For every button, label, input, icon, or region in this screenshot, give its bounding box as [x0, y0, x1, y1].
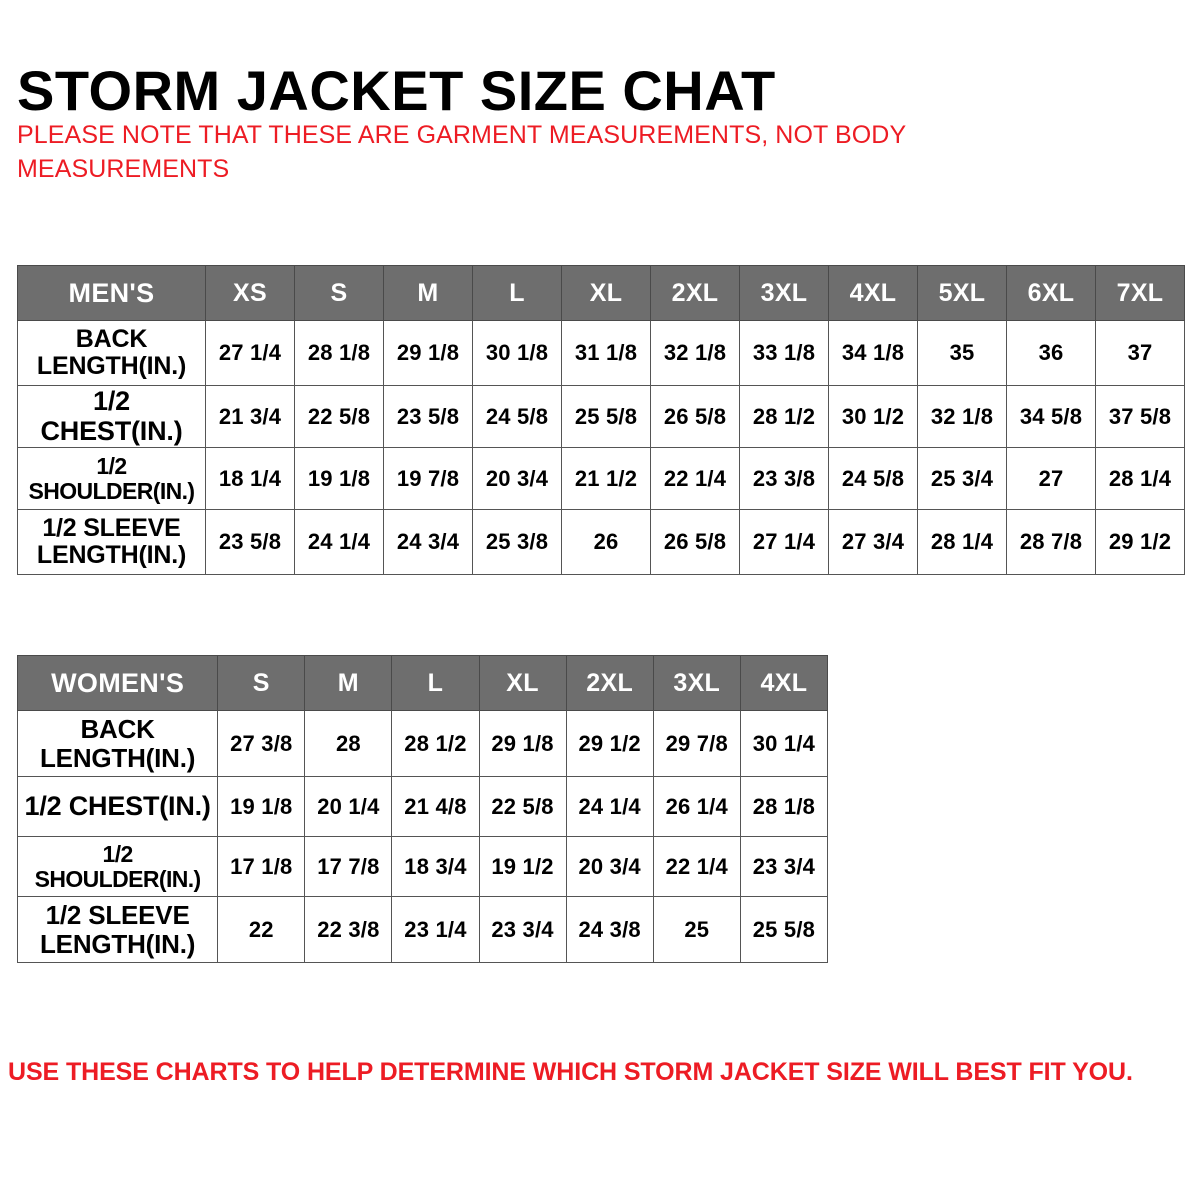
- measurement-cell: 28 1/2: [392, 711, 479, 777]
- measurement-cell: 22: [218, 897, 305, 963]
- womens-column-header-xl: XL: [479, 656, 566, 711]
- measurement-cell: 23 3/8: [740, 448, 829, 510]
- womens-row-label-3: 1/2 SLEEVELENGTH(IN.): [18, 897, 218, 963]
- measurement-cell: 28 1/2: [740, 386, 829, 448]
- measurement-cell: 23 5/8: [206, 510, 295, 575]
- measurement-cell: 28 1/4: [918, 510, 1007, 575]
- measurement-cell: 25 5/8: [740, 897, 827, 963]
- measurement-cell: 25 5/8: [562, 386, 651, 448]
- measurement-cell: 18 1/4: [206, 448, 295, 510]
- measurement-cell: 27: [1007, 448, 1096, 510]
- womens-table-head: WOMEN'SSMLXL2XL3XL4XL: [18, 656, 828, 711]
- measurement-cell: 29 1/8: [384, 321, 473, 386]
- measurement-cell: 29 1/2: [1096, 510, 1185, 575]
- measurement-cell: 18 3/4: [392, 837, 479, 897]
- measurement-cell: 36: [1007, 321, 1096, 386]
- row-label-line: LENGTH(IN.): [37, 541, 186, 569]
- womens-corner-label: WOMEN'S: [18, 656, 218, 711]
- mens-column-header-xl: XL: [562, 266, 651, 321]
- measurement-cell: 26: [562, 510, 651, 575]
- table-row: BACKLENGTH(IN.)27 3/82828 1/229 1/829 1/…: [18, 711, 828, 777]
- measurement-cell: 28 1/8: [740, 777, 827, 837]
- mens-column-header-2xl: 2XL: [651, 266, 740, 321]
- measurement-cell: 34 1/8: [829, 321, 918, 386]
- mens-table-head: MEN'SXSSMLXL2XL3XL4XL5XL6XL7XL: [18, 266, 1185, 321]
- measurement-cell: 21 3/4: [206, 386, 295, 448]
- mens-row-label-1: 1/2 CHEST(IN.): [18, 386, 206, 448]
- mens-column-header-3xl: 3XL: [740, 266, 829, 321]
- womens-header-row: WOMEN'SSMLXL2XL3XL4XL: [18, 656, 828, 711]
- measurement-cell: 24 5/8: [829, 448, 918, 510]
- measurement-cell: 23 3/4: [479, 897, 566, 963]
- measurement-cell: 32 1/8: [918, 386, 1007, 448]
- row-label-line: LENGTH(IN.): [37, 352, 186, 380]
- row-label-line: 1/2 SLEEVE: [42, 514, 180, 542]
- mens-column-header-7xl: 7XL: [1096, 266, 1185, 321]
- measurement-cell: 30 1/8: [473, 321, 562, 386]
- measurement-cell: 19 1/2: [479, 837, 566, 897]
- womens-row-label-2: 1/2 SHOULDER(IN.): [18, 837, 218, 897]
- mens-column-header-s: S: [295, 266, 384, 321]
- mens-column-header-6xl: 6XL: [1007, 266, 1096, 321]
- measurement-cell: 34 5/8: [1007, 386, 1096, 448]
- measurement-cell: 27 3/8: [218, 711, 305, 777]
- row-label-line: 1/2 SLEEVE: [46, 900, 190, 930]
- measurement-cell: 26 5/8: [651, 510, 740, 575]
- measurement-cell: 35: [918, 321, 1007, 386]
- measurement-cell: 24 3/8: [566, 897, 653, 963]
- measurement-cell: 17 1/8: [218, 837, 305, 897]
- row-label-line: LENGTH(IN.): [40, 929, 195, 959]
- measurement-cell: 32 1/8: [651, 321, 740, 386]
- measurement-cell: 37 5/8: [1096, 386, 1185, 448]
- measurement-cell: 27 1/4: [206, 321, 295, 386]
- measurement-cell: 25 3/8: [473, 510, 562, 575]
- womens-table-body: BACKLENGTH(IN.)27 3/82828 1/229 1/829 1/…: [18, 711, 828, 963]
- size-chart-page: STORM JACKET SIZE CHAT PLEASE NOTE THAT …: [0, 0, 1200, 1200]
- footer-note: USE THESE CHARTS TO HELP DETERMINE WHICH…: [8, 1058, 1188, 1087]
- mens-row-label-0: BACKLENGTH(IN.): [18, 321, 206, 386]
- measurement-cell: 27 3/4: [829, 510, 918, 575]
- measurement-cell: 28 7/8: [1007, 510, 1096, 575]
- row-label-line: BACK: [80, 714, 154, 744]
- measurement-cell: 26 1/4: [653, 777, 740, 837]
- measurement-cell: 22 5/8: [479, 777, 566, 837]
- measurement-cell: 37: [1096, 321, 1185, 386]
- table-row: 1/2 CHEST(IN.)21 3/422 5/823 5/824 5/825…: [18, 386, 1185, 448]
- measurement-cell: 17 7/8: [305, 837, 392, 897]
- measurement-cell: 22 3/8: [305, 897, 392, 963]
- measurement-cell: 28: [305, 711, 392, 777]
- table-row: 1/2 CHEST(IN.)19 1/820 1/421 4/822 5/824…: [18, 777, 828, 837]
- measurement-cell: 33 1/8: [740, 321, 829, 386]
- measurement-cell: 20 3/4: [566, 837, 653, 897]
- table-row: 1/2 SLEEVELENGTH(IN.)2222 3/823 1/423 3/…: [18, 897, 828, 963]
- measurement-cell: 23 5/8: [384, 386, 473, 448]
- womens-column-header-3xl: 3XL: [653, 656, 740, 711]
- womens-column-header-4xl: 4XL: [740, 656, 827, 711]
- table-row: BACKLENGTH(IN.)27 1/428 1/829 1/830 1/83…: [18, 321, 1185, 386]
- measurement-cell: 30 1/4: [740, 711, 827, 777]
- table-row: 1/2 SHOULDER(IN.)18 1/419 1/819 7/820 3/…: [18, 448, 1185, 510]
- measurement-cell: 24 1/4: [295, 510, 384, 575]
- measurement-cell: 30 1/2: [829, 386, 918, 448]
- measurement-cell: 23 1/4: [392, 897, 479, 963]
- measurement-cell: 22 1/4: [653, 837, 740, 897]
- measurement-cell: 29 1/2: [566, 711, 653, 777]
- measurement-cell: 28 1/8: [295, 321, 384, 386]
- mens-column-header-xs: XS: [206, 266, 295, 321]
- measurement-cell: 19 7/8: [384, 448, 473, 510]
- page-title: STORM JACKET SIZE CHAT: [17, 62, 776, 121]
- measurement-cell: 19 1/8: [295, 448, 384, 510]
- measurement-cell: 26 5/8: [651, 386, 740, 448]
- womens-column-header-s: S: [218, 656, 305, 711]
- mens-column-header-5xl: 5XL: [918, 266, 1007, 321]
- womens-column-header-l: L: [392, 656, 479, 711]
- mens-corner-label: MEN'S: [18, 266, 206, 321]
- mens-size-table: MEN'SXSSMLXL2XL3XL4XL5XL6XL7XL BACKLENGT…: [17, 265, 1185, 575]
- table-row: 1/2 SLEEVELENGTH(IN.)23 5/824 1/424 3/42…: [18, 510, 1185, 575]
- garment-measurement-note: PLEASE NOTE THAT THESE ARE GARMENT MEASU…: [17, 118, 1017, 186]
- row-label-line: BACK: [76, 325, 147, 353]
- measurement-cell: 28 1/4: [1096, 448, 1185, 510]
- measurement-cell: 25: [653, 897, 740, 963]
- measurement-cell: 20 1/4: [305, 777, 392, 837]
- measurement-cell: 20 3/4: [473, 448, 562, 510]
- mens-column-header-l: L: [473, 266, 562, 321]
- measurement-cell: 21 1/2: [562, 448, 651, 510]
- measurement-cell: 31 1/8: [562, 321, 651, 386]
- measurement-cell: 24 5/8: [473, 386, 562, 448]
- mens-table-body: BACKLENGTH(IN.)27 1/428 1/829 1/830 1/83…: [18, 321, 1185, 575]
- mens-row-label-3: 1/2 SLEEVELENGTH(IN.): [18, 510, 206, 575]
- mens-column-header-4xl: 4XL: [829, 266, 918, 321]
- measurement-cell: 21 4/8: [392, 777, 479, 837]
- mens-row-label-2: 1/2 SHOULDER(IN.): [18, 448, 206, 510]
- table-row: 1/2 SHOULDER(IN.)17 1/817 7/818 3/419 1/…: [18, 837, 828, 897]
- measurement-cell: 25 3/4: [918, 448, 1007, 510]
- measurement-cell: 22 5/8: [295, 386, 384, 448]
- mens-column-header-m: M: [384, 266, 473, 321]
- row-label-line: LENGTH(IN.): [40, 743, 195, 773]
- measurement-cell: 24 1/4: [566, 777, 653, 837]
- measurement-cell: 29 7/8: [653, 711, 740, 777]
- mens-header-row: MEN'SXSSMLXL2XL3XL4XL5XL6XL7XL: [18, 266, 1185, 321]
- measurement-cell: 29 1/8: [479, 711, 566, 777]
- measurement-cell: 22 1/4: [651, 448, 740, 510]
- womens-size-table: WOMEN'SSMLXL2XL3XL4XL BACKLENGTH(IN.)27 …: [17, 655, 828, 963]
- womens-row-label-1: 1/2 CHEST(IN.): [18, 777, 218, 837]
- measurement-cell: 19 1/8: [218, 777, 305, 837]
- womens-column-header-2xl: 2XL: [566, 656, 653, 711]
- measurement-cell: 27 1/4: [740, 510, 829, 575]
- measurement-cell: 24 3/4: [384, 510, 473, 575]
- womens-column-header-m: M: [305, 656, 392, 711]
- measurement-cell: 23 3/4: [740, 837, 827, 897]
- womens-row-label-0: BACKLENGTH(IN.): [18, 711, 218, 777]
